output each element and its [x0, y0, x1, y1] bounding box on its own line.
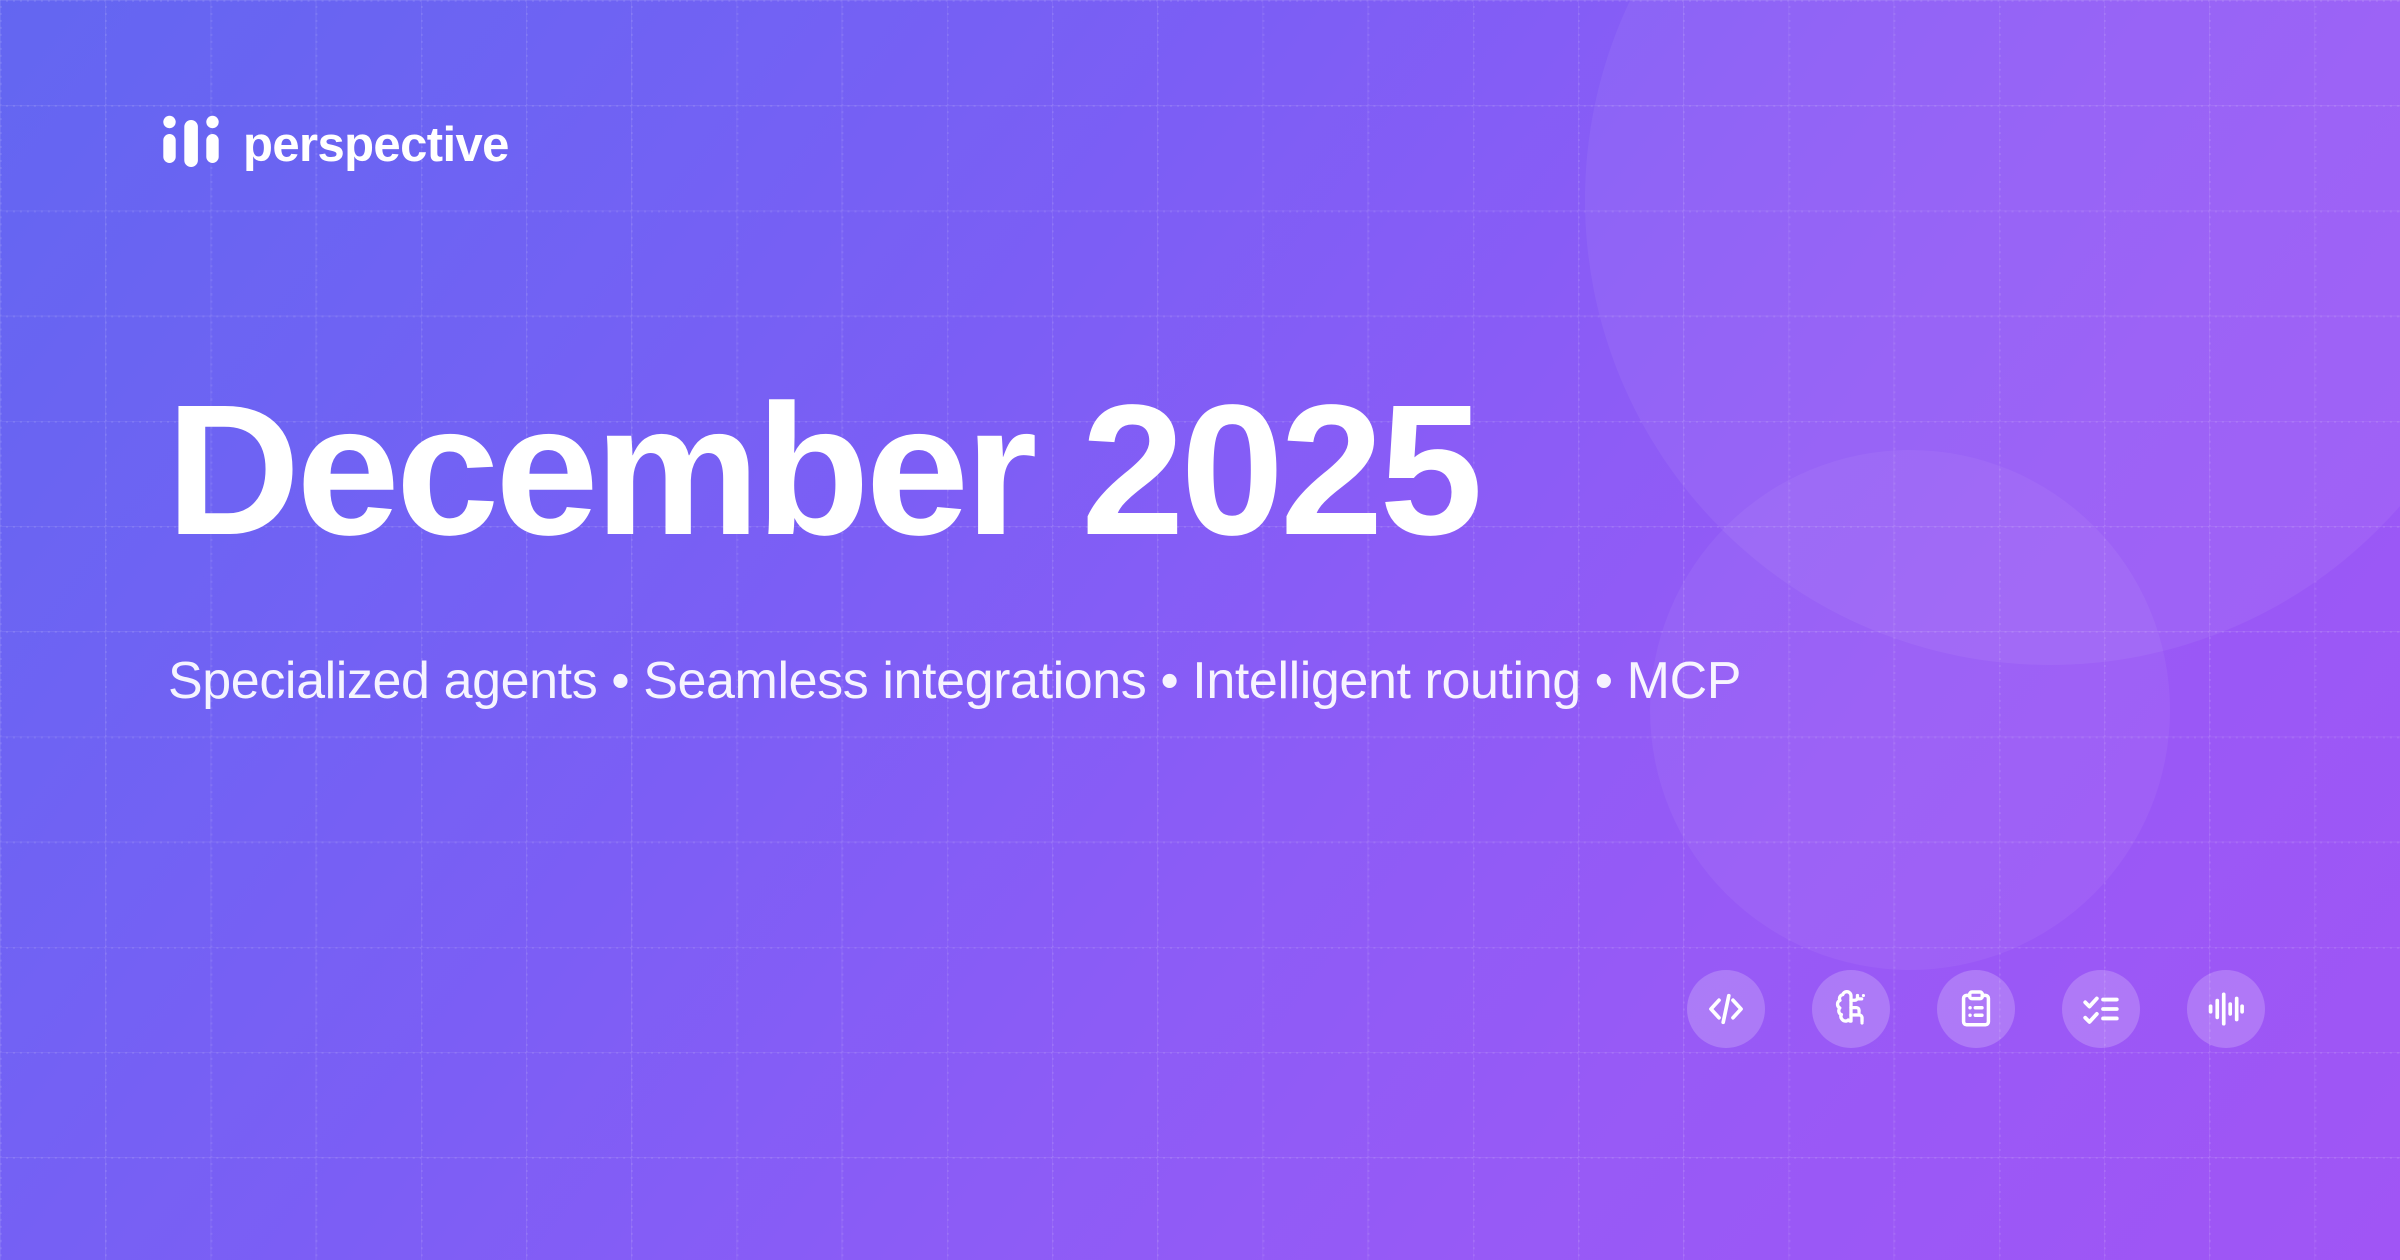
feature-badge-row [1687, 970, 2265, 1048]
clipboard-list-icon [1955, 988, 1997, 1030]
perspective-bars-logo-icon [160, 112, 222, 179]
page-title: December 2025 [166, 378, 1479, 564]
badge-checklist[interactable] [2062, 970, 2140, 1048]
release-banner: perspective December 2025 Specialized ag… [0, 0, 2400, 1260]
brand-logo[interactable]: perspective [160, 112, 509, 179]
badge-clipboard-list[interactable] [1937, 970, 2015, 1048]
badge-code[interactable] [1687, 970, 1765, 1048]
page-subtitle: Specialized agents • Seamless integratio… [168, 650, 1741, 712]
checklist-icon [2080, 988, 2122, 1030]
badge-brain-circuit[interactable] [1812, 970, 1890, 1048]
brain-circuit-icon [1830, 988, 1872, 1030]
background-grid-pattern [0, 0, 2400, 1260]
brand-wordmark: perspective [243, 121, 509, 170]
badge-waveform[interactable] [2187, 970, 2265, 1048]
waveform-icon [2205, 988, 2247, 1030]
code-icon [1705, 988, 1747, 1030]
decorative-circle-large [1585, 0, 2400, 665]
